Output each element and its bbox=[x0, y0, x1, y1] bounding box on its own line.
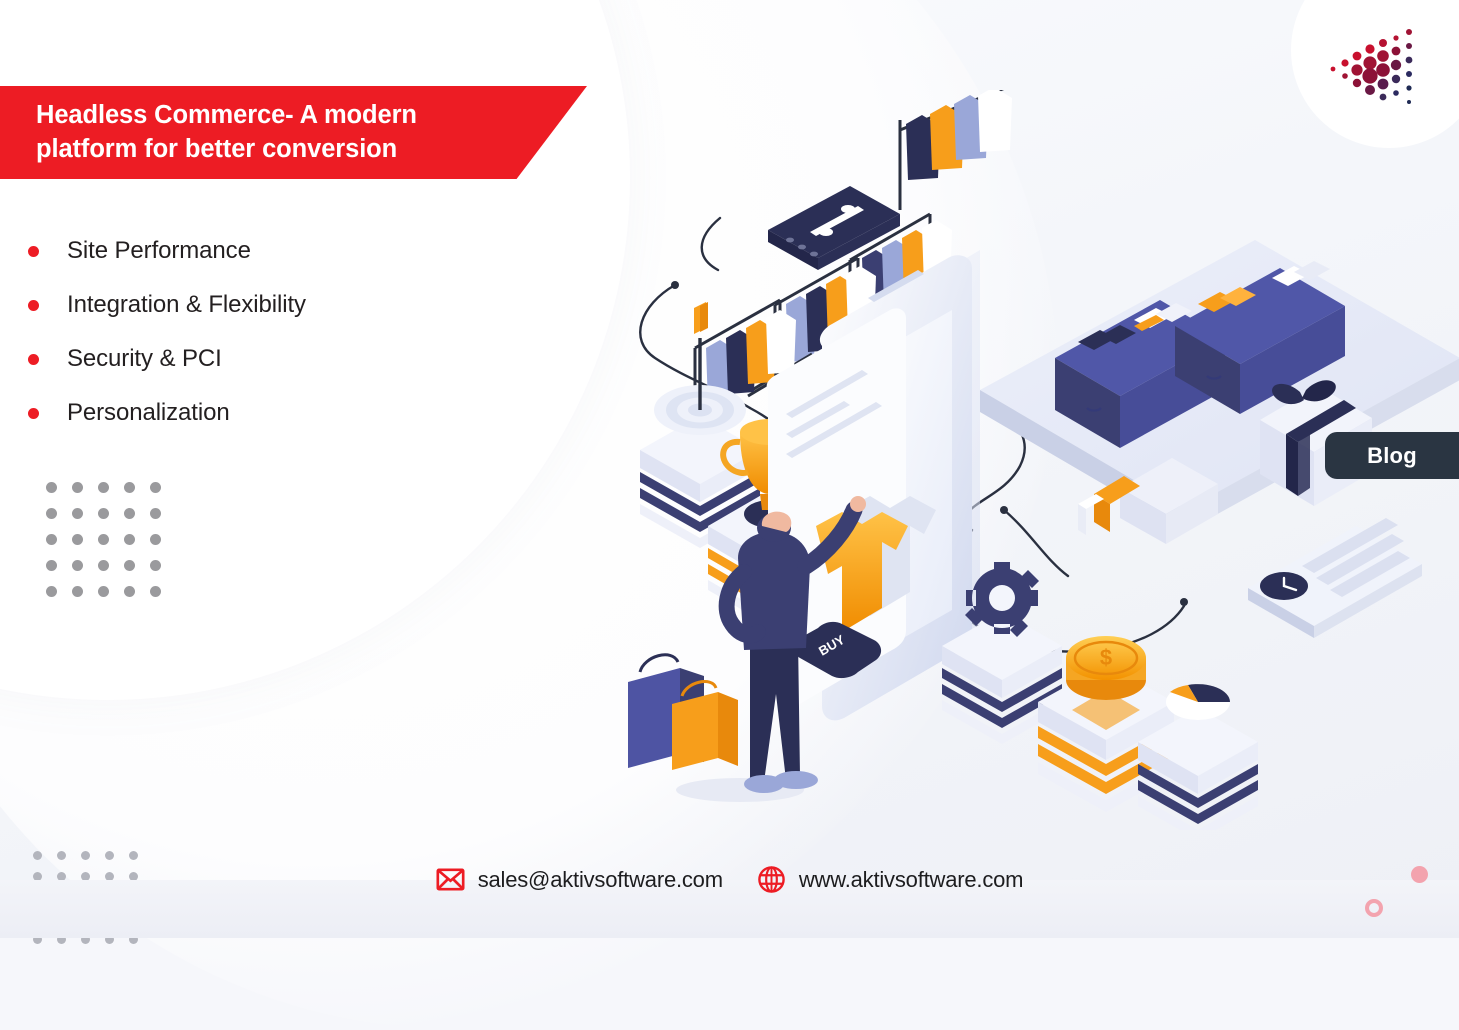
blog-tab-label: Blog bbox=[1367, 443, 1417, 469]
bullet-label: Personalization bbox=[67, 399, 230, 427]
decorative-dot-grid bbox=[46, 482, 176, 612]
list-item: Personalization bbox=[28, 386, 458, 440]
bullet-label: Site Performance bbox=[67, 237, 251, 265]
aktiv-logo-icon bbox=[1329, 18, 1437, 126]
globe-icon bbox=[757, 865, 786, 894]
contact-email[interactable]: sales@aktivsoftware.com bbox=[436, 865, 723, 894]
bullet-dot-icon bbox=[28, 408, 39, 419]
bullet-dot-icon bbox=[28, 246, 39, 257]
list-item: Security & PCI bbox=[28, 332, 458, 386]
bullet-dot-icon bbox=[28, 300, 39, 311]
svg-text:$: $ bbox=[1100, 645, 1112, 670]
clock-card bbox=[1248, 518, 1422, 638]
list-item: Site Performance bbox=[28, 224, 458, 278]
email-text: sales@aktivsoftware.com bbox=[478, 867, 723, 893]
website-text: www.aktivsoftware.com bbox=[799, 867, 1023, 893]
feature-bullet-list: Site Performance Integration & Flexibili… bbox=[28, 224, 458, 440]
bullet-label: Security & PCI bbox=[67, 345, 222, 373]
blog-tab[interactable]: Blog bbox=[1325, 432, 1459, 479]
poster-canvas: BUY bbox=[0, 0, 1459, 938]
decorative-pink-circle bbox=[1411, 866, 1428, 883]
bullet-dot-icon bbox=[28, 354, 39, 365]
bullet-label: Integration & Flexibility bbox=[67, 291, 306, 319]
decorative-pink-ring bbox=[1365, 899, 1383, 917]
title-banner: Headless Commerce- A modern platform for… bbox=[0, 86, 587, 179]
footer-contacts: sales@aktivsoftware.com www.aktivsoftwar… bbox=[0, 865, 1459, 894]
envelope-icon bbox=[436, 865, 465, 894]
list-item: Integration & Flexibility bbox=[28, 278, 458, 332]
page-title: Headless Commerce- A modern platform for… bbox=[36, 99, 466, 167]
contact-website[interactable]: www.aktivsoftware.com bbox=[757, 865, 1023, 894]
shopping-bags bbox=[628, 655, 738, 770]
